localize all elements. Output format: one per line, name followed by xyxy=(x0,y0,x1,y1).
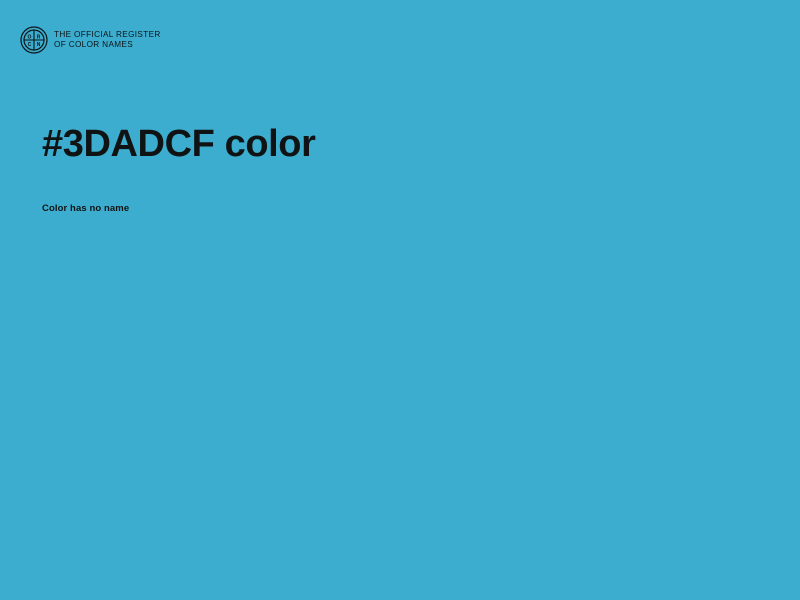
color-page: O R C N THE OFFICIAL REGISTER OF COLOR N… xyxy=(0,0,800,600)
orcn-seal-logo: O R C N xyxy=(20,26,48,54)
brand-title-line-1: THE OFFICIAL REGISTER xyxy=(54,30,161,40)
svg-text:N: N xyxy=(37,42,41,48)
svg-text:C: C xyxy=(28,42,32,48)
page-title: #3DADCF color xyxy=(42,123,742,167)
brand-title: THE OFFICIAL REGISTER OF COLOR NAMES xyxy=(54,30,161,49)
svg-text:O: O xyxy=(28,34,32,40)
brand-title-line-2: OF COLOR NAMES xyxy=(54,40,161,50)
svg-text:R: R xyxy=(37,34,41,40)
color-info-block: #3DADCF color Color has no name xyxy=(42,123,742,214)
brand-lockup[interactable]: O R C N THE OFFICIAL REGISTER OF COLOR N… xyxy=(20,26,161,54)
color-name-status: Color has no name xyxy=(42,167,742,214)
